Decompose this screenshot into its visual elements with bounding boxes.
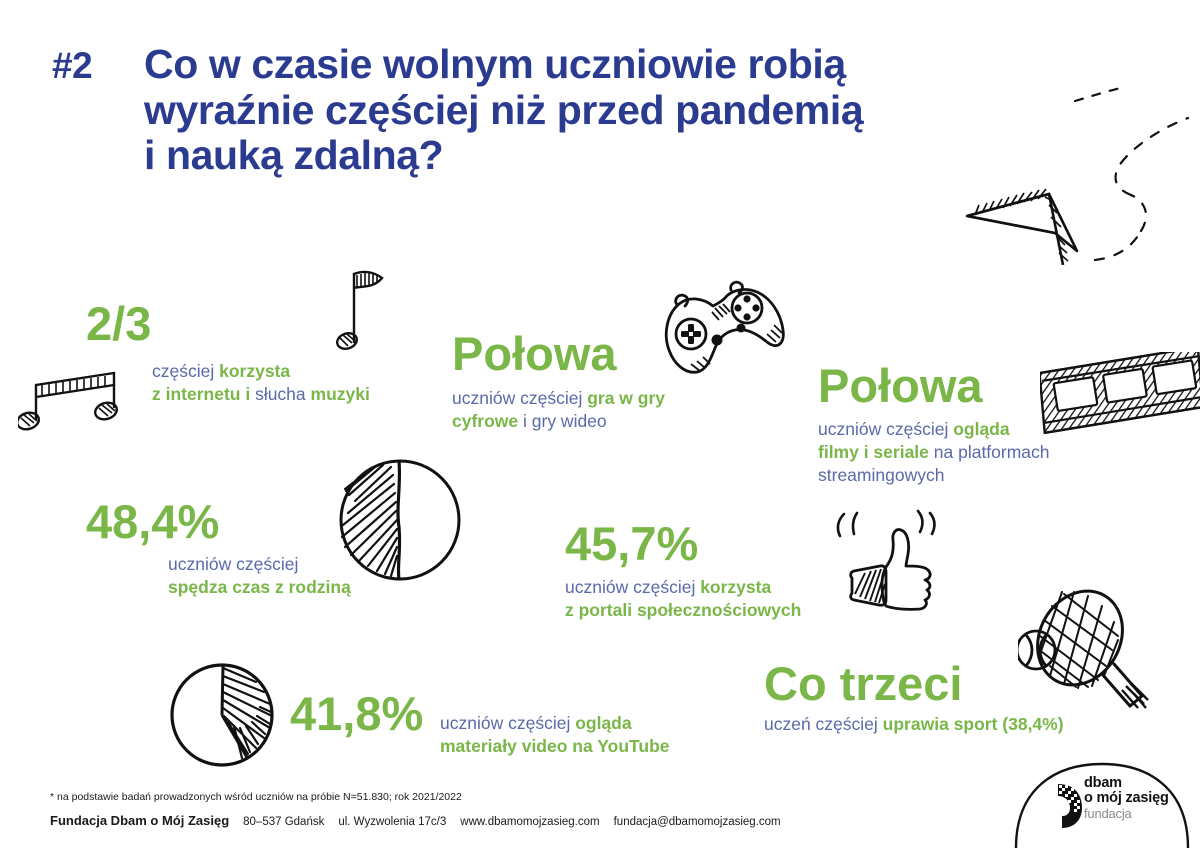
organization-website[interactable]: www.dbamomojzasieg.com [460,816,599,828]
organization-email[interactable]: fundacja@dbamomojzasieg.com [614,816,781,828]
stat-headline-digital-games: Połowa [452,330,617,377]
desc-part: uczniów częściej [168,554,298,574]
title-line-2-text: wyraźnie częściej niż przed pandemią [144,87,863,133]
desc-line: cyfrowe i gry wideo [452,410,665,433]
logo-hook-icon [1058,784,1082,828]
desc-part: uczniów częściej [440,713,575,733]
desc-part-emph: spędza czas z rodziną [168,577,351,597]
logo-line-3: fundacja [1084,806,1169,821]
stat-headline-social-media: 45,7% [565,520,698,567]
pie-chart-icon [160,660,290,770]
desc-line: spędza czas z rodziną [168,576,351,599]
stat-headline-family-time: 48,4% [86,498,219,545]
stat-headline-youtube-video: 41,8% [290,690,423,737]
music-note-beamed-icon [18,355,138,435]
desc-part-emph: cyfrowe [452,411,518,431]
organization-name: Fundacja Dbam o Mój Zasięg [50,813,229,828]
stat-desc-family-time: uczniów częściej spędza czas z rodziną [168,553,351,599]
desc-line: streamingowych [818,464,1050,487]
desc-line: uczniów częściej korzysta [565,576,801,599]
desc-line: uczniów częściej ogląda [818,418,1050,441]
organization-postal: 80–537 Gdańsk [243,816,324,828]
stat-desc-internet-music: częściej korzysta z internetu i słucha m… [152,360,370,406]
desc-part-emph: gra w gry [587,388,665,408]
stat-desc-digital-games: uczniów częściej gra w gry cyfrowe i gry… [452,387,665,433]
thumbs-up-icon [832,506,952,618]
desc-part: i gry wideo [518,411,607,431]
gamepad-icon [655,268,790,383]
desc-line: uczniów częściej ogląda [440,712,670,735]
logo-text: dbam o mój zasięg fundacja [1084,776,1169,821]
desc-line: z portali społecznościowych [565,599,801,622]
desc-line: uczeń częściej uprawia sport (38,4%) [764,713,1064,736]
desc-part-emph: materiały video na YouTube [440,736,670,756]
half-circle-chart-icon [333,455,473,585]
desc-part: częściej [152,361,219,381]
desc-part-emph: ogląda [575,713,631,733]
logo: dbam o mój zasięg fundacja [1012,762,1192,848]
footer: * na podstawie badań prowadzonych wśród … [50,790,950,828]
title-line-3-text: i nauką zdalną? [144,132,443,178]
desc-part-emph: korzysta [700,577,771,597]
stat-desc-films-series: uczniów częściej ogląda filmy i seriale … [818,418,1050,487]
title-number: #2 [52,43,144,88]
desc-part: uczniów częściej [818,419,953,439]
desc-line: uczniów częściej gra w gry [452,387,665,410]
desc-line: z internetu i słucha muzyki [152,383,370,406]
stat-films-series: Połowa [818,362,983,409]
stat-youtube-video: 41,8% [290,690,423,737]
logo-line-2: o mój zasięg [1084,791,1169,806]
stat-headline-sport: Co trzeci [764,660,963,707]
desc-line: częściej korzysta [152,360,370,383]
desc-line: filmy i seriale na platformach [818,441,1050,464]
stat-desc-sport: uczeń częściej uprawia sport (38,4%) [764,713,1064,736]
desc-part-emph: korzysta [219,361,290,381]
title-line-1: #2Co w czasie wolnym uczniowie robią [52,42,1142,88]
title-rest-part: uczniowie robią [533,41,846,87]
stat-digital-games: Połowa [452,330,617,377]
desc-line: materiały video na YouTube [440,735,670,758]
desc-part: streamingowych [818,465,944,485]
desc-part: uczniów częściej [565,577,700,597]
stat-desc-youtube-video: uczniów częściej ogląda materiały video … [440,712,670,758]
desc-part: słucha [255,384,310,404]
desc-line: uczniów częściej [168,553,351,576]
desc-part: na platformach [929,442,1050,462]
film-strip-icon [1040,352,1200,444]
organization-line: Fundacja Dbam o Mój Zasięg80–537 Gdańsku… [50,813,950,828]
stat-internet-music: 2/3 [86,300,151,347]
stat-family-time: 48,4% [86,498,219,545]
stat-headline-films-series: Połowa [818,362,983,409]
desc-part-emph: uprawia sport (38,4%) [883,714,1064,734]
stat-desc-social-media: uczniów częściej korzysta z portali społ… [565,576,801,622]
desc-part: uczniów częściej [452,388,587,408]
desc-part: uczeń częściej [764,714,883,734]
paper-plane-icon [945,85,1195,265]
stat-sport: Co trzeci [764,660,963,707]
stat-headline-internet-music: 2/3 [86,300,151,347]
stat-social-media: 45,7% [565,520,698,567]
title-strong-part: Co w czasie wolnym [144,41,533,87]
desc-part-emph: filmy i seriale [818,442,929,462]
footnote-text: * na podstawie badań prowadzonych wśród … [50,790,950,804]
music-notes-icon [330,262,390,352]
desc-part-emph: z internetu i [152,384,255,404]
logo-line-1: dbam [1084,776,1169,791]
desc-part-emph: z portali społecznościowych [565,600,801,620]
organization-street: ul. Wyzwolenia 17c/3 [338,816,446,828]
desc-part-emph: ogląda [953,419,1009,439]
tennis-racket-icon [1018,588,1178,733]
infographic-poster: #2Co w czasie wolnym uczniowie robią wyr… [0,0,1200,849]
desc-part-emph: muzyki [311,384,370,404]
